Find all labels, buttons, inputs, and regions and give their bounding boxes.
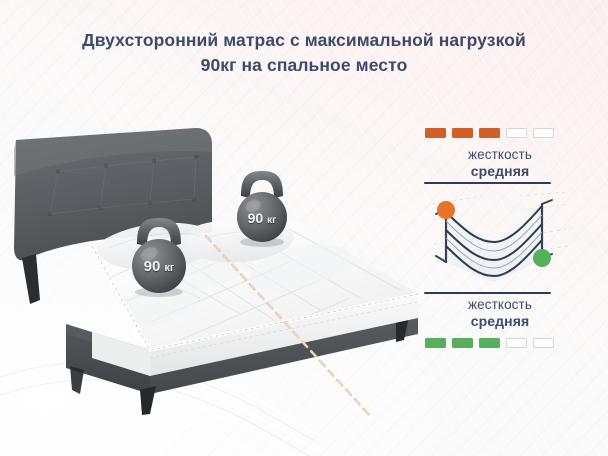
title-line-2: 90кг на спальное место: [0, 53, 608, 78]
firmness-segment: [479, 128, 500, 138]
firmness-label-top: жесткость средняя: [418, 147, 582, 180]
firmness-segment: [506, 338, 527, 348]
firmness-scale-bottom: [425, 338, 554, 348]
firmness-top-value: средняя: [418, 163, 582, 180]
firmness-segment: [452, 128, 473, 138]
firmness-segment: [533, 128, 554, 138]
panel-divider-bottom: [424, 292, 551, 294]
firmness-segment: [533, 338, 554, 348]
firmness-panel: жесткость средняя: [418, 118, 598, 368]
spring-block-diagram: [424, 190, 574, 286]
kettlebell-body: [132, 239, 186, 293]
marker-bottom-green: [533, 249, 551, 267]
firmness-top-caption: жесткость: [418, 147, 582, 163]
firmness-segment: [452, 338, 473, 348]
promo-banner: Двухсторонний матрас с максимальной нагр…: [0, 0, 608, 456]
panel-divider-top: [424, 182, 551, 184]
firmness-segment: [479, 338, 500, 348]
page-title: Двухсторонний матрас с максимальной нагр…: [0, 28, 608, 78]
kettlebell-body: [237, 192, 287, 242]
firmness-segment: [425, 338, 446, 348]
firmness-segment: [425, 128, 446, 138]
marker-top-orange: [437, 201, 455, 219]
title-line-1: Двухсторонний матрас с максимальной нагр…: [82, 30, 526, 50]
kettlebell-left: 90 кг: [113, 214, 205, 298]
bed-graphic: [0, 118, 420, 418]
firmness-segment: [506, 128, 527, 138]
firmness-bottom-value: средняя: [418, 313, 582, 330]
firmness-label-bottom: жесткость средняя: [418, 297, 582, 330]
firmness-bottom-caption: жесткость: [418, 297, 582, 313]
bed-illustration: [0, 118, 420, 418]
kettlebell-right: 90 кг: [219, 168, 305, 248]
firmness-scale-top: [425, 128, 554, 138]
